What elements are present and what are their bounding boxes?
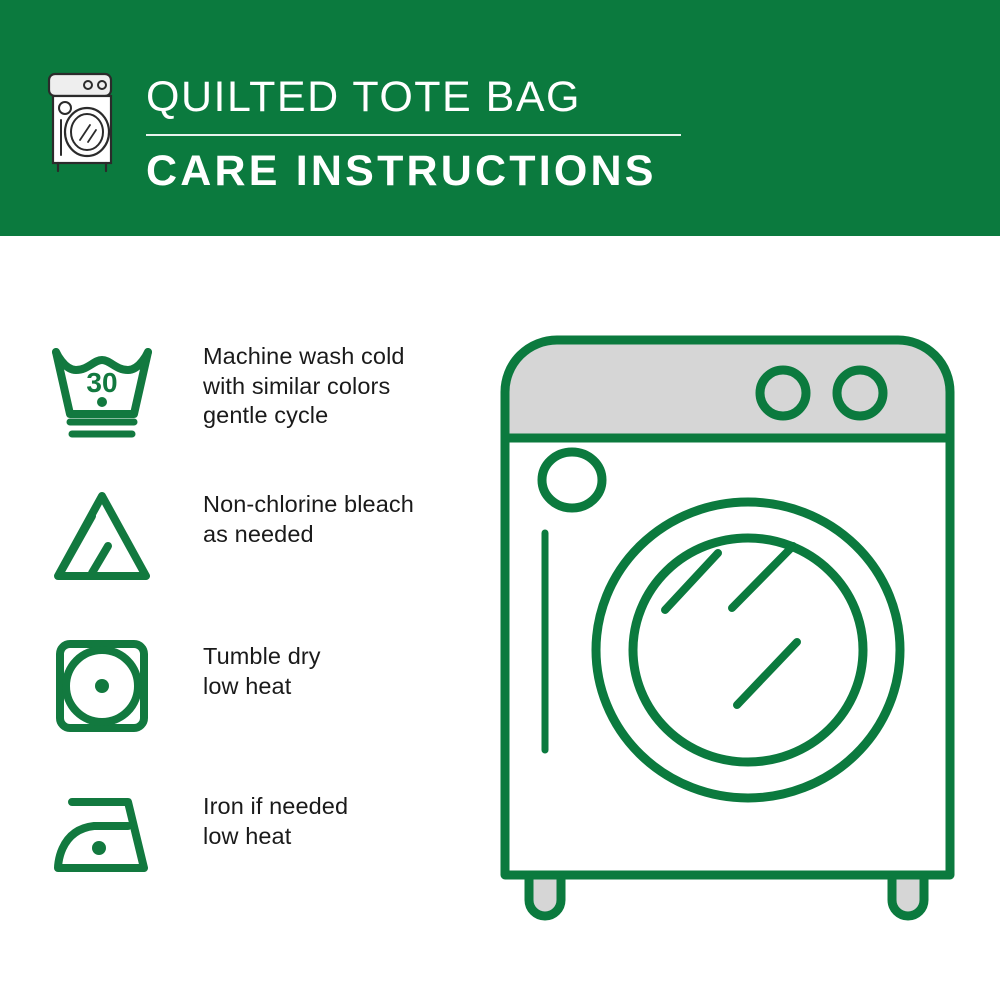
iron-icon bbox=[50, 790, 155, 880]
care-symbol-wash: 30 bbox=[50, 340, 155, 440]
dry-heat-dot-icon bbox=[95, 679, 109, 693]
header-banner: QUILTED TOTE BAG CARE INSTRUCTIONS bbox=[0, 0, 1000, 236]
care-text-bleach: Non-chlorine bleach as needed bbox=[203, 488, 414, 549]
care-symbol-bleach bbox=[50, 488, 155, 584]
care-symbol-iron bbox=[50, 790, 155, 880]
care-row-dry: Tumble dry low heat bbox=[50, 640, 480, 736]
care-row-iron: Iron if needed low heat bbox=[50, 790, 480, 880]
machine-leg-right bbox=[892, 875, 924, 916]
care-text-wash: Machine wash cold with similar colors ge… bbox=[203, 340, 405, 431]
care-text-dry: Tumble dry low heat bbox=[203, 640, 321, 701]
wash-dot-icon bbox=[97, 397, 107, 407]
care-symbol-dry bbox=[50, 640, 155, 736]
care-instructions-infographic: QUILTED TOTE BAG CARE INSTRUCTIONS 30 Ma… bbox=[0, 0, 1000, 1000]
iron-heat-dot-icon bbox=[92, 841, 106, 855]
care-text-iron: Iron if needed low heat bbox=[203, 790, 348, 851]
washing-machine-icon bbox=[44, 70, 124, 176]
wash-tub-icon: 30 bbox=[50, 340, 155, 440]
title-divider bbox=[146, 134, 681, 136]
bleach-triangle-icon bbox=[50, 488, 155, 584]
care-row-bleach: Non-chlorine bleach as needed bbox=[50, 488, 480, 584]
washing-machine-illustration bbox=[495, 330, 975, 930]
care-row-wash: 30 Machine wash cold with similar colors… bbox=[50, 340, 480, 440]
page-title: QUILTED TOTE BAG bbox=[146, 72, 706, 122]
wash-temperature-label: 30 bbox=[86, 367, 117, 398]
machine-leg-left bbox=[529, 875, 561, 916]
page-subtitle: CARE INSTRUCTIONS bbox=[146, 146, 706, 196]
header-title-group: QUILTED TOTE BAG CARE INSTRUCTIONS bbox=[146, 72, 706, 196]
tumble-dry-icon bbox=[50, 640, 155, 736]
